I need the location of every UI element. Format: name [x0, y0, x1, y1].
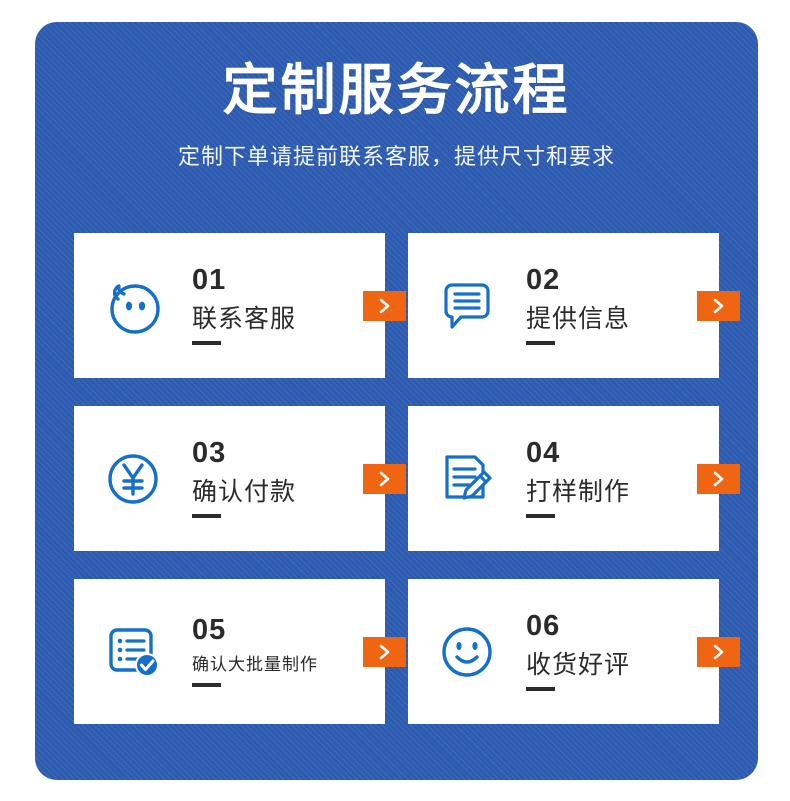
chevron-right-icon — [710, 297, 728, 315]
blue-textured-panel: 定制服务流程 定制下单请提前联系客服，提供尺寸和要求 — [35, 22, 758, 780]
step-underline — [526, 341, 555, 345]
step-label: 收货好评 — [526, 652, 709, 678]
next-arrow-badge[interactable] — [697, 464, 740, 494]
yuan-coin-icon — [74, 406, 192, 551]
chevron-right-icon — [710, 470, 728, 488]
document-pencil-icon — [408, 406, 526, 551]
steps-row-2: 03 确认付款 — [74, 406, 719, 551]
step-card-01-text: 01 联系客服 — [192, 266, 385, 345]
speech-bubble-lines-icon — [408, 233, 526, 378]
chevron-right-icon — [376, 297, 394, 315]
step-card-02-text: 02 提供信息 — [526, 266, 719, 345]
steps-row-3: 05 确认大批量制作 — [74, 579, 719, 724]
step-card-05[interactable]: 05 确认大批量制作 — [74, 579, 385, 724]
step-card-06[interactable]: 06 收货好评 — [408, 579, 719, 724]
steps-grid: 01 联系客服 — [74, 233, 719, 724]
customer-service-face-icon — [74, 233, 192, 378]
steps-row-1: 01 联系客服 — [74, 233, 719, 378]
step-label: 提供信息 — [526, 306, 709, 332]
step-underline — [526, 514, 555, 518]
step-underline — [526, 687, 555, 691]
step-card-06-text: 06 收货好评 — [526, 612, 719, 691]
step-underline — [192, 683, 221, 687]
step-number: 03 — [192, 439, 375, 468]
step-card-04[interactable]: 04 打样制作 — [408, 406, 719, 551]
step-card-02[interactable]: 02 提供信息 — [408, 233, 719, 378]
step-card-01[interactable]: 01 联系客服 — [74, 233, 385, 378]
header: 定制服务流程 定制下单请提前联系客服，提供尺寸和要求 — [35, 60, 758, 171]
chevron-right-icon — [376, 470, 394, 488]
step-underline — [192, 341, 221, 345]
step-label: 确认付款 — [192, 479, 375, 505]
page-title: 定制服务流程 — [35, 60, 758, 121]
page-subtitle: 定制下单请提前联系客服，提供尺寸和要求 — [35, 139, 758, 171]
next-arrow-badge[interactable] — [363, 464, 406, 494]
smiley-face-icon — [408, 579, 526, 724]
step-number: 06 — [526, 612, 709, 641]
step-underline — [192, 514, 221, 518]
checklist-check-icon — [74, 579, 192, 724]
chevron-right-icon — [376, 643, 394, 661]
next-arrow-badge[interactable] — [697, 291, 740, 321]
step-label: 联系客服 — [192, 306, 375, 332]
step-number: 01 — [192, 266, 375, 295]
step-label: 确认大批量制作 — [192, 656, 375, 674]
step-number: 02 — [526, 266, 709, 295]
next-arrow-badge[interactable] — [363, 291, 406, 321]
step-number: 04 — [526, 439, 709, 468]
next-arrow-badge[interactable] — [697, 637, 740, 667]
step-card-03[interactable]: 03 确认付款 — [74, 406, 385, 551]
next-arrow-badge[interactable] — [363, 637, 406, 667]
step-card-05-text: 05 确认大批量制作 — [192, 616, 385, 687]
step-card-04-text: 04 打样制作 — [526, 439, 719, 518]
step-card-03-text: 03 确认付款 — [192, 439, 385, 518]
service-process-infographic: 定制服务流程 定制下单请提前联系客服，提供尺寸和要求 — [0, 0, 790, 801]
step-label: 打样制作 — [526, 479, 709, 505]
step-number: 05 — [192, 616, 375, 645]
chevron-right-icon — [710, 643, 728, 661]
